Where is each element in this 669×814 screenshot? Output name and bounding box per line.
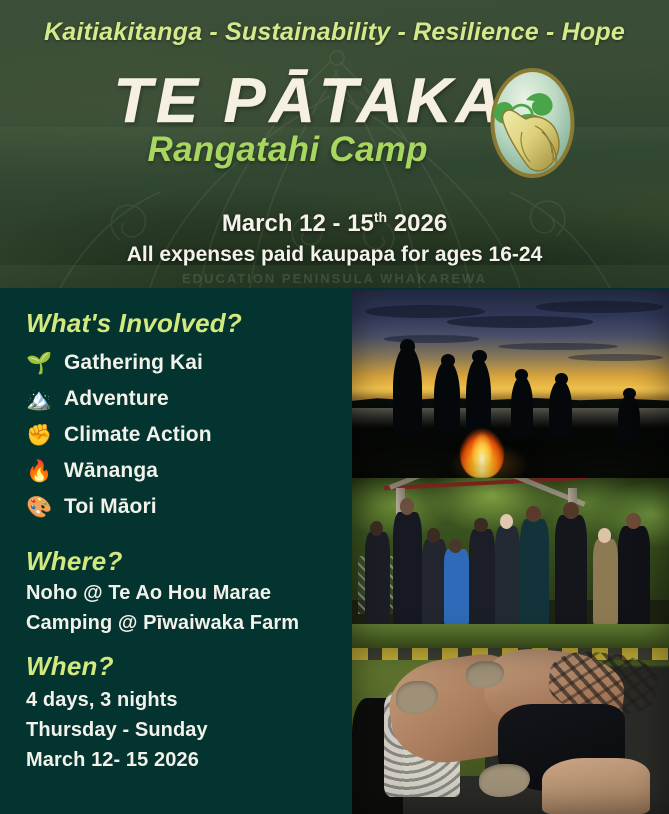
silhouette-person [434,361,459,432]
list-item-label: Toi Māori [64,495,157,519]
title-wrapper: TE PĀTAKA Rangatahi Camp [0,72,669,170]
silhouette-head [515,369,528,381]
photo-marae-welcome [352,478,669,648]
where-heading: Where? [26,546,352,577]
silhouette-person [511,376,533,436]
grass-strip [352,624,669,648]
silhouette-person [549,380,573,436]
when-heading: When? [26,651,352,682]
list-item: 🎨 Toi Māori [26,489,352,525]
date-year: 2026 [387,210,447,237]
campfire-inner-flame [472,428,492,468]
list-item: 🏔️ Adventure [26,381,352,417]
poster-header: EDUCATION PENINSULA WHAKAREWA Kaitiakita… [0,0,669,288]
seedling-icon: 🌱 [26,353,64,374]
header-watermark-text: EDUCATION PENINSULA WHAKAREWA [0,271,669,286]
snow-mountain-icon: 🏔️ [26,389,64,410]
artist-palette-icon: 🎨 [26,497,64,518]
header-dates: March 12 - 15th 2026 [0,209,669,238]
title-block: TE PĀTAKA Rangatahi Camp [100,72,570,170]
whats-involved-heading: What's Involved? [26,308,352,339]
fire-icon: 🔥 [26,461,64,482]
when-line: 4 days, 3 nights [26,689,352,712]
where-line: Noho @ Te Ao Hou Marae [26,582,352,605]
photo-campfire-sunset [352,290,669,478]
photo-uku-clay-workshop [352,648,669,814]
silhouette-head [441,354,455,367]
when-line: Thursday - Sunday [26,719,352,742]
silhouette-head [472,350,486,363]
photo-column [352,288,669,814]
poster-tagline: Kaitiakitanga - Sustainability - Resilie… [0,18,669,47]
silhouette-head [555,373,568,385]
raised-fist-icon: ✊ [26,425,64,446]
list-item: ✊ Climate Action [26,417,352,453]
date-range: March 12 - 15 [222,210,374,237]
list-item: 🔥 Wānanga [26,453,352,489]
list-item-label: Gathering Kai [64,351,203,375]
te-pataka-koru-logo-icon [485,64,580,182]
list-item-label: Wānanga [64,459,158,483]
poster: EDUCATION PENINSULA WHAKAREWA Kaitiakita… [0,0,669,814]
silhouette-head [623,388,636,399]
header-eligibility-note: All expenses paid kaupapa for ages 16-24 [0,243,669,267]
whats-involved-list: 🌱 Gathering Kai 🏔️ Adventure ✊ Climate A… [26,345,352,525]
silhouette-head [400,339,416,354]
list-item: 🌱 Gathering Kai [26,345,352,381]
details-panel: What's Involved? 🌱 Gathering Kai 🏔️ Adve… [0,288,352,814]
date-ordinal: th [374,209,387,225]
leg [542,758,650,814]
silhouette-person [618,395,640,444]
when-line: March 12- 15 2026 [26,749,352,772]
list-item-label: Adventure [64,387,169,411]
list-item-label: Climate Action [64,423,212,447]
silhouette-person [393,346,422,432]
where-line: Camping @ Pīwaiwaka Farm [26,612,352,635]
